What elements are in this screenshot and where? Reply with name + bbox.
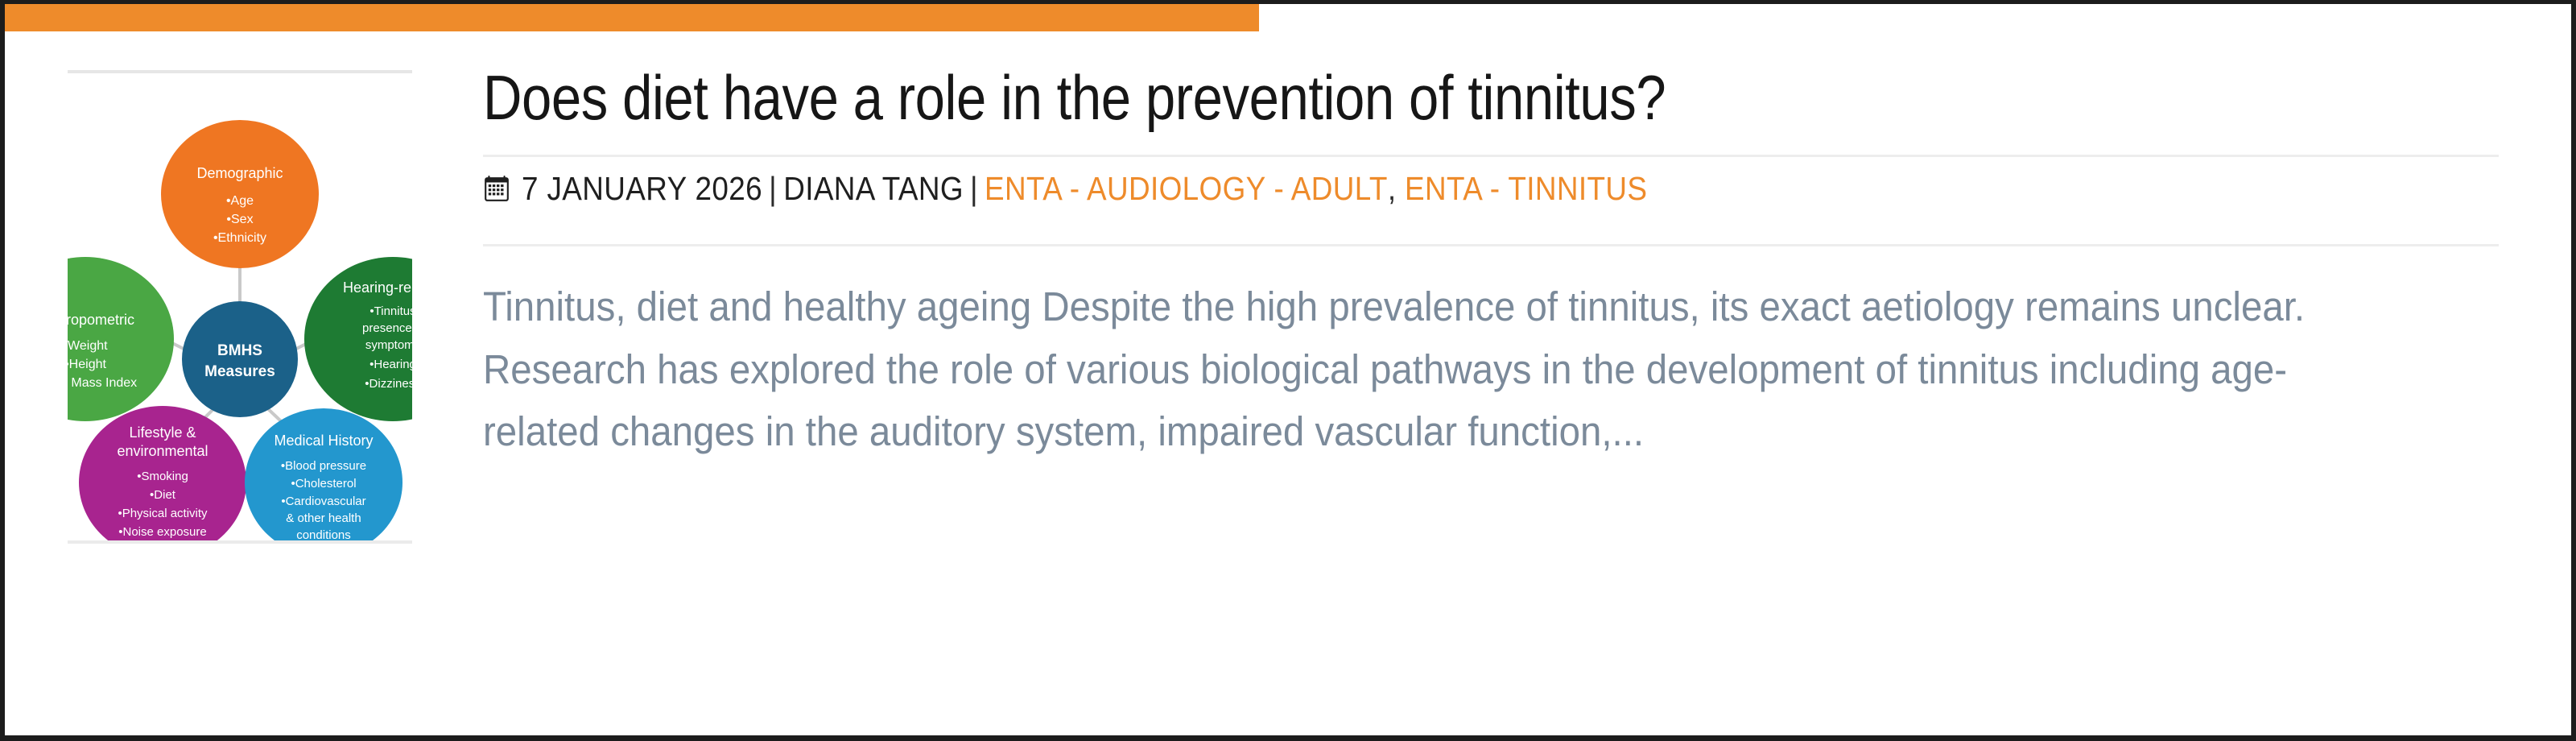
meta-divider bbox=[483, 244, 2499, 246]
svg-text:•Noise exposure: •Noise exposure bbox=[118, 525, 206, 539]
node-lifestyle-environmental: Lifestyle & environmental •Smoking •Diet… bbox=[79, 406, 246, 540]
article-card: Demographic •Age •Sex •Ethnicity Anthrop… bbox=[0, 0, 2576, 741]
post-thumbnail[interactable]: Demographic •Age •Sex •Ethnicity Anthrop… bbox=[68, 70, 412, 544]
svg-text:•Height: •Height bbox=[68, 358, 106, 371]
svg-text:•Physical activity: •Physical activity bbox=[118, 507, 208, 520]
bmhs-measures-diagram: Demographic •Age •Sex •Ethnicity Anthrop… bbox=[68, 73, 412, 540]
meta-separator-1: | bbox=[762, 170, 783, 208]
post-thumbnail-column: Demographic •Age •Sex •Ethnicity Anthrop… bbox=[5, 31, 412, 544]
svg-text:•Cholesterol: •Cholesterol bbox=[291, 477, 356, 491]
svg-text:Lifestyle &: Lifestyle & bbox=[129, 424, 196, 441]
svg-text:•Age: •Age bbox=[226, 194, 254, 208]
svg-text:symptoms: symptoms bbox=[365, 338, 412, 352]
svg-text:•Sex: •Sex bbox=[226, 213, 253, 226]
svg-text:•Cardiovascular: •Cardiovascular bbox=[281, 495, 365, 508]
meta-separator-2: | bbox=[964, 170, 985, 208]
svg-text:presence &: presence & bbox=[362, 321, 412, 335]
svg-text:•Tinnitus: •Tinnitus bbox=[369, 304, 412, 318]
category-link-tinnitus[interactable]: ENTA - TINNITUS bbox=[1405, 170, 1647, 208]
top-accent-bar bbox=[5, 4, 1259, 31]
svg-text:•Weight: •Weight bbox=[68, 339, 108, 353]
post-row: Demographic •Age •Sex •Ethnicity Anthrop… bbox=[5, 31, 2571, 735]
svg-text:Hearing-related: Hearing-related bbox=[343, 279, 412, 296]
svg-text:•Diet: •Diet bbox=[150, 488, 176, 502]
node-hearing-related: Hearing-related •Tinnitus presence & sym… bbox=[304, 257, 412, 421]
svg-text:Anthropometric: Anthropometric bbox=[68, 312, 134, 328]
svg-text:Demographic: Demographic bbox=[196, 165, 283, 181]
svg-text:Medical History: Medical History bbox=[274, 433, 373, 449]
category-comma: , bbox=[1388, 170, 1397, 208]
post-excerpt: Tinnitus, diet and healthy ageing Despit… bbox=[483, 275, 2358, 463]
svg-text:•Body Mass Index: •Body Mass Index bbox=[68, 376, 137, 390]
post-meta: 7 JANUARY 2026 | DIANA TANG | ENTA - AUD… bbox=[483, 157, 2499, 220]
svg-text:environmental: environmental bbox=[117, 443, 208, 459]
svg-text:•Hearing: •Hearing bbox=[369, 358, 412, 371]
node-anthropometric: Anthropometric •Weight •Height •Body Mas… bbox=[68, 257, 174, 421]
svg-text:•Smoking: •Smoking bbox=[137, 470, 188, 483]
svg-text:& other health: & other health bbox=[286, 511, 361, 525]
calendar-icon bbox=[483, 176, 510, 203]
svg-text:•Dizziness: •Dizziness bbox=[365, 377, 412, 391]
svg-text:•Ethnicity: •Ethnicity bbox=[213, 231, 266, 245]
node-demographic: Demographic •Age •Sex •Ethnicity bbox=[161, 120, 319, 268]
node-medical-history: Medical History •Blood pressure •Cholest… bbox=[245, 408, 402, 540]
svg-text:•Blood pressure: •Blood pressure bbox=[281, 459, 366, 473]
node-bmhs-center: BMHS Measures bbox=[182, 301, 298, 417]
category-link-audiology-adult[interactable]: ENTA - AUDIOLOGY - ADULT bbox=[985, 170, 1388, 208]
post-title-link[interactable]: Does diet have a role in the prevention … bbox=[483, 65, 2216, 130]
svg-text:Measures: Measures bbox=[204, 363, 275, 380]
post-date: 7 JANUARY 2026 bbox=[522, 170, 762, 208]
svg-text:conditions: conditions bbox=[296, 528, 351, 540]
svg-text:BMHS: BMHS bbox=[217, 342, 262, 359]
post-author[interactable]: DIANA TANG bbox=[783, 170, 964, 208]
post-text-column: Does diet have a role in the prevention … bbox=[412, 31, 2571, 463]
